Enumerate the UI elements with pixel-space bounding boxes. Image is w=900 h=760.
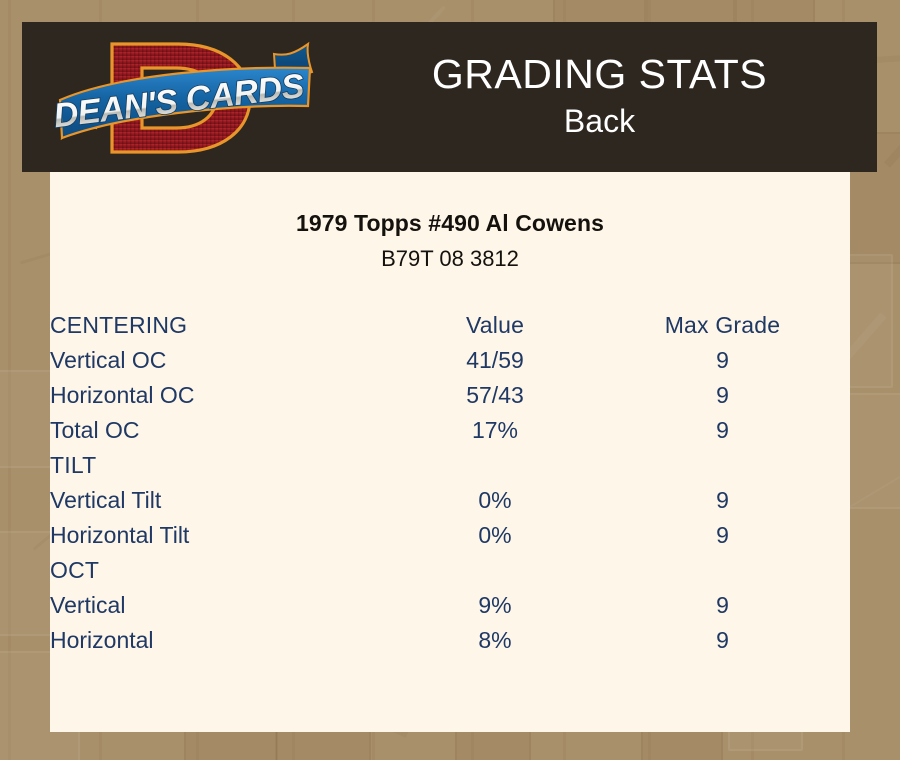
row-label: Horizontal Tilt xyxy=(50,518,395,553)
table-row: Vertical OC41/599 xyxy=(50,343,850,378)
row-value: 17% xyxy=(395,413,595,448)
column-header-section: CENTERING xyxy=(50,308,395,343)
deans-cards-logo[interactable]: DEAN'S CARDS xyxy=(50,28,320,168)
table-header-row: CENTERING Value Max Grade xyxy=(50,308,850,343)
row-value: 57/43 xyxy=(395,378,595,413)
section-header-spacer-value xyxy=(395,448,595,483)
section-header-row: OCT xyxy=(50,553,850,588)
page-title: GRADING STATS xyxy=(432,53,767,96)
row-label: Vertical xyxy=(50,588,395,623)
table-row: Vertical Tilt0%9 xyxy=(50,483,850,518)
card-title: 1979 Topps #490 Al Cowens xyxy=(50,210,850,237)
row-label: Horizontal OC xyxy=(50,378,395,413)
header-bar: DEAN'S CARDS GRADING STATS Back xyxy=(22,22,877,172)
row-label: Total OC xyxy=(50,413,395,448)
content-panel: 1979 Topps #490 Al Cowens B79T 08 3812 C… xyxy=(50,172,850,732)
table-row: Vertical9%9 xyxy=(50,588,850,623)
section-header-label: TILT xyxy=(50,448,395,483)
section-header-row: TILT xyxy=(50,448,850,483)
row-max-grade: 9 xyxy=(595,343,850,378)
section-header-label: OCT xyxy=(50,553,395,588)
section-header-spacer-value xyxy=(395,553,595,588)
row-max-grade: 9 xyxy=(595,623,850,658)
row-label: Horizontal xyxy=(50,623,395,658)
row-max-grade: 9 xyxy=(595,588,850,623)
row-value: 0% xyxy=(395,483,595,518)
column-header-max-grade: Max Grade xyxy=(595,308,850,343)
header-title-block: GRADING STATS Back xyxy=(322,22,877,172)
row-value: 8% xyxy=(395,623,595,658)
row-max-grade: 9 xyxy=(595,413,850,448)
row-value: 9% xyxy=(395,588,595,623)
section-header-spacer-grade xyxy=(595,448,850,483)
row-max-grade: 9 xyxy=(595,483,850,518)
table-row: Horizontal8%9 xyxy=(50,623,850,658)
table-row: Horizontal Tilt0%9 xyxy=(50,518,850,553)
row-max-grade: 9 xyxy=(595,378,850,413)
row-value: 41/59 xyxy=(395,343,595,378)
table-header: CENTERING Value Max Grade xyxy=(50,308,850,343)
section-header-spacer-grade xyxy=(595,553,850,588)
grading-stats-table: CENTERING Value Max Grade Vertical OC41/… xyxy=(50,308,850,658)
table-row: Horizontal OC57/439 xyxy=(50,378,850,413)
row-value: 0% xyxy=(395,518,595,553)
table-body: Vertical OC41/599Horizontal OC57/439Tota… xyxy=(50,343,850,658)
card-heading: 1979 Topps #490 Al Cowens B79T 08 3812 xyxy=(50,210,850,272)
row-label: Vertical Tilt xyxy=(50,483,395,518)
column-header-value: Value xyxy=(395,308,595,343)
row-max-grade: 9 xyxy=(595,518,850,553)
table-row: Total OC17%9 xyxy=(50,413,850,448)
card-serial-number: B79T 08 3812 xyxy=(50,246,850,272)
page-subtitle: Back xyxy=(564,101,635,141)
row-label: Vertical OC xyxy=(50,343,395,378)
